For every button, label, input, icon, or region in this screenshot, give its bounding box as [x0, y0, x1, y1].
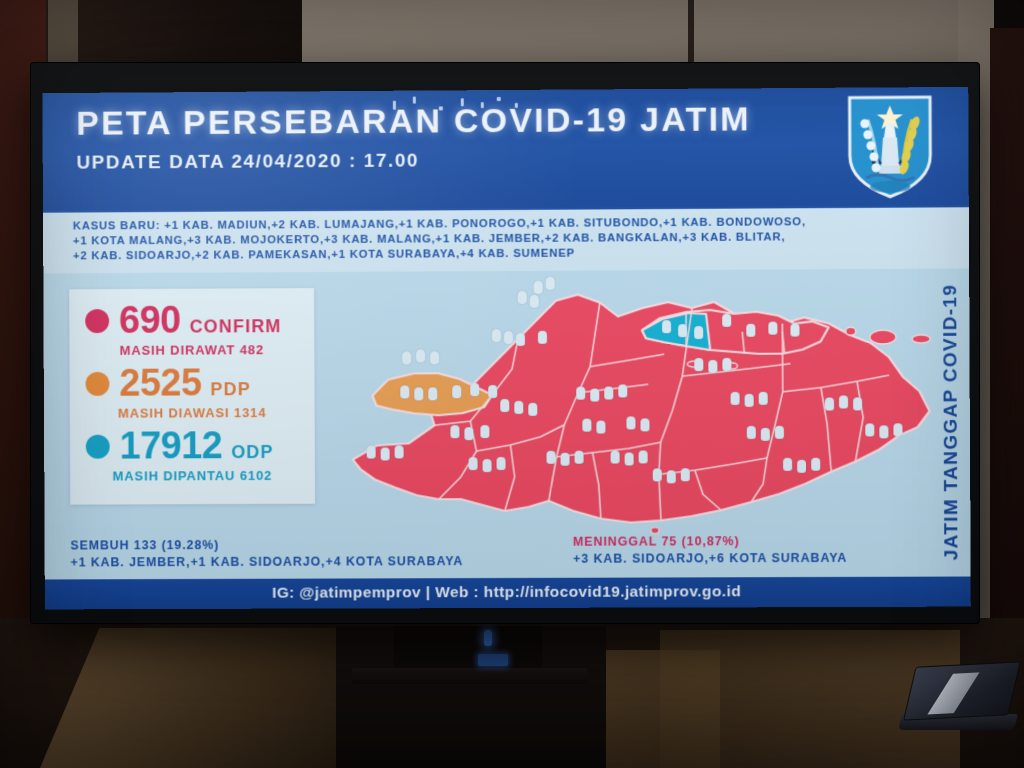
map-case-badge [464, 427, 473, 440]
map-case-badge [708, 360, 717, 373]
map-case-badge [430, 351, 439, 364]
slide-footer: IG: @jatimpemprov | Web : http://infocov… [45, 577, 971, 610]
slide-header: PETA PERSEBARAN COVID-19 JATIM UPDATE DA… [42, 87, 968, 211]
slide-body: 690 CONFIRM MASIH DIRAWAT 482 2525 PDP M… [43, 268, 970, 579]
tv-power-led [484, 630, 492, 646]
map-case-badge [639, 450, 648, 463]
tv-screen: PETA PERSEBARAN COVID-19 JATIM UPDATE DA… [42, 87, 970, 610]
east-java-province-emblem [846, 93, 935, 200]
map-case-badge [483, 459, 492, 472]
map-case-badge [488, 385, 497, 398]
map-case-badge [768, 321, 777, 334]
map-case-badge [747, 426, 756, 439]
tv-ir-receiver [478, 654, 508, 666]
odp-sub: MASIH DIPANTAU 6102 [70, 467, 315, 483]
map-case-badge [450, 425, 459, 438]
map-case-badge [469, 457, 478, 470]
map-case-badge [825, 397, 834, 410]
recovered-note: SEMBUH 133 (19.28%) +1 KAB. JEMBER,+1 KA… [70, 536, 463, 571]
map-case-badge [400, 385, 409, 398]
odp-value: 17912 [120, 427, 223, 465]
map-case-badge [626, 416, 635, 429]
map-case-badge [575, 450, 584, 463]
map-case-badge [759, 391, 768, 404]
map-case-badge [625, 452, 634, 465]
update-timestamp: UPDATE DATA 24/04/2020 : 17.00 [76, 147, 968, 175]
confirm-sub: MASIH DIRAWAT 482 [69, 342, 314, 358]
footer-contact-text: IG: @jatimpemprov | Web : http://infocov… [272, 583, 741, 602]
map-case-badge [618, 384, 627, 397]
map-case-badge [761, 427, 770, 440]
odp-dot-icon [86, 434, 110, 458]
confirm-dot-icon [85, 309, 109, 333]
map-case-badge [722, 358, 731, 371]
map-case-badge [681, 468, 690, 481]
stat-row-confirm: 690 CONFIRM [69, 301, 314, 340]
map-case-badge [547, 450, 556, 463]
odp-label: ODP [231, 442, 274, 465]
map-case-badge [518, 290, 527, 303]
television: PETA PERSEBARAN COVID-19 JATIM UPDATE DA… [30, 62, 980, 624]
map-case-badge [492, 329, 501, 342]
tv-stand-neck [394, 626, 542, 672]
map-case-badge [497, 457, 506, 470]
laptop [900, 664, 1016, 736]
map-case-badge [678, 324, 687, 337]
map-case-badge [402, 351, 411, 364]
map-case-badge [790, 323, 799, 336]
map-case-badge [576, 386, 585, 399]
deaths-detail: +3 KAB. SIDOARJO,+6 KOTA SURABAYA [573, 550, 847, 568]
map-case-badge [530, 294, 539, 307]
tv-stand-foot [352, 668, 588, 684]
stat-row-pdp: 2525 PDP [70, 364, 315, 403]
map-case-badge [504, 331, 513, 344]
map-case-badge [528, 402, 537, 415]
map-case-badge [480, 425, 489, 438]
map-case-badge [722, 313, 731, 326]
map-case-badge [395, 445, 404, 458]
pdp-label: PDP [210, 379, 251, 402]
map-case-badge [516, 333, 525, 346]
laptop-screen-glyph [927, 672, 979, 714]
map-case-badge [604, 386, 613, 399]
statistics-card: 690 CONFIRM MASIH DIRAWAT 482 2525 PDP M… [69, 288, 315, 505]
pdp-dot-icon [85, 371, 109, 395]
new-cases-band: KASUS BARU: +1 KAB. MADIUN,+2 KAB. LUMAJ… [43, 205, 969, 273]
map-case-badge [470, 383, 479, 396]
map-case-badge [416, 349, 425, 362]
map-case-badge [514, 401, 523, 414]
map-case-badge [500, 399, 509, 412]
stat-row-odp: 17912 ODP [70, 426, 315, 465]
map-case-badge [534, 280, 543, 293]
recovered-headline: SEMBUH 133 (19.28%) [70, 536, 463, 554]
map-case-badge [582, 418, 591, 431]
map-case-badge [538, 330, 547, 343]
confirm-value: 690 [119, 301, 181, 339]
map-case-badge [546, 276, 555, 289]
map-case-badge [865, 423, 874, 436]
map-case-badge [367, 445, 376, 458]
map-case-badge [381, 447, 390, 460]
map-case-badge [452, 385, 461, 398]
deaths-note: MENINGGAL 75 (10,87%) +3 KAB. SIDOARJO,+… [573, 533, 847, 568]
map-case-badge [667, 470, 676, 483]
doorway-dark-right [990, 28, 1024, 648]
map-case-badge [694, 358, 703, 371]
map-case-badge [640, 418, 649, 431]
map-case-badge [775, 425, 784, 438]
side-campaign-label: JATIM TANGGAP COVID-19 [931, 268, 971, 577]
map-case-badge [596, 420, 605, 433]
map-case-badge [893, 423, 902, 436]
map-case-badge [853, 397, 862, 410]
map-case-badge [746, 323, 755, 336]
map-case-badge [811, 457, 820, 470]
map-case-badge [783, 457, 792, 470]
laptop-screen [903, 661, 1021, 720]
presentation-slide: PETA PERSEBARAN COVID-19 JATIM UPDATE DA… [42, 87, 970, 610]
side-campaign-text: JATIM TANGGAP COVID-19 [940, 284, 963, 561]
map-case-badge [662, 320, 671, 333]
map-case-badge [414, 387, 423, 400]
map-case-badge [745, 393, 754, 406]
map-case-badge [694, 326, 703, 339]
map-case-badge [653, 468, 662, 481]
deaths-headline: MENINGGAL 75 (10,87%) [573, 533, 847, 551]
map-case-badge [797, 459, 806, 472]
map-case-badge [561, 452, 570, 465]
map-case-badge [839, 395, 848, 408]
map-case-badge [428, 387, 437, 400]
map-case-badge [879, 425, 888, 438]
pdp-sub: MASIH DIAWASI 1314 [70, 404, 315, 420]
pdp-value: 2525 [119, 364, 201, 402]
recovered-detail: +1 KAB. JEMBER,+1 KAB. SIDOARJO,+4 KOTA … [70, 553, 463, 571]
confirm-label: CONFIRM [190, 316, 282, 339]
east-java-province-map [342, 270, 945, 573]
map-case-badge [611, 450, 620, 463]
page-title: PETA PERSEBARAN COVID-19 JATIM [76, 99, 968, 144]
map-case-badge [590, 388, 599, 401]
map-case-badge [731, 392, 740, 405]
